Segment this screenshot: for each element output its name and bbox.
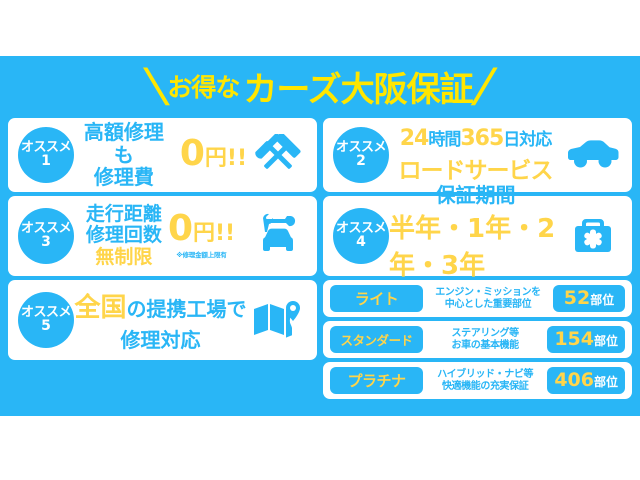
- plan-desc-line1: ハイブリッド・ナビ等: [426, 369, 544, 381]
- benefit-card-3: オススメ 3 走行距離 修理回数 無制限 0 円!! ※修理金額上限有: [8, 196, 317, 276]
- badge-number: 4: [356, 235, 366, 250]
- plan-desc-line2: 中心とした重要部位: [426, 299, 550, 311]
- card-3-amount-unit: 円!!: [193, 215, 235, 247]
- crossed-hammers-icon: [247, 134, 309, 176]
- benefit-row-3: オススメ 5 全国の提携工場で 修理対応: [8, 280, 632, 399]
- plan-description: ステアリング等 お車の基本機能: [423, 328, 547, 352]
- benefit-grid: オススメ 1 高額修理も 修理費 0 円!!: [8, 118, 632, 403]
- card-2-hours-unit: 時間: [428, 130, 460, 150]
- car-wrench-icon: [247, 211, 309, 261]
- badge-number: 3: [41, 235, 51, 250]
- headline-prefix: お得な: [167, 68, 239, 104]
- plan-list: ライト エンジン・ミッションを 中心とした重要部位 52部位 スタンダード ステ…: [323, 280, 632, 399]
- card-1-text: 高額修理も 修理費: [74, 121, 174, 188]
- card-3-amount-number: 0: [168, 212, 193, 246]
- card-3-amount: 0 円!!: [168, 212, 235, 247]
- card-2-days-unit: 日対応: [503, 130, 551, 150]
- benefit-card-4: オススメ 4 保証期間 半年・1年・2年・3年 ※加入者様の加入状況により延長が…: [323, 196, 632, 276]
- plan-count-unit: 部位: [594, 328, 618, 355]
- card-2-days-number: 365: [460, 126, 503, 151]
- plan-count-unit: 部位: [594, 369, 618, 396]
- benefit-row-2: オススメ 3 走行距離 修理回数 無制限 0 円!! ※修理金額上限有: [8, 196, 632, 276]
- card-1-amount: 0 円!!: [180, 137, 247, 172]
- benefit-card-4-body: 保証期間 半年・1年・2年・3年 ※加入者様の加入状況により延長が可能: [389, 179, 562, 294]
- card-5-highlight: 全国: [74, 293, 126, 323]
- card-5-line2: 修理対応: [121, 324, 201, 353]
- badge-number: 5: [41, 319, 51, 334]
- plan-desc-line1: ステアリング等: [426, 328, 544, 340]
- plan-count-badge: 406部位: [547, 367, 625, 394]
- card-3-line3: 無制限: [95, 247, 152, 268]
- card-3-note: ※修理金額上限有: [176, 249, 226, 259]
- card-4-line1: 保証期間: [436, 179, 516, 208]
- benefit-card-2-body: 24時間365日対応 ロードサービス: [389, 125, 562, 185]
- card-4-line2: 半年・1年・2年・3年: [389, 208, 562, 282]
- badge-label: オススメ: [336, 222, 386, 236]
- recommend-badge-5: オススメ 5: [18, 292, 74, 348]
- plan-desc-line1: エンジン・ミッションを: [426, 287, 550, 299]
- recommend-badge-1: オススメ 1: [18, 127, 74, 183]
- map-pin-icon: [247, 299, 309, 341]
- badge-label: オススメ: [21, 222, 71, 236]
- card-2-line1: 24時間365日対応: [400, 125, 552, 151]
- car-side-icon: [562, 138, 624, 172]
- plan-count-badge: 154部位: [547, 326, 625, 353]
- card-5-line1: 全国の提携工場で: [74, 287, 246, 324]
- card-1-amount-number: 0: [180, 137, 205, 171]
- card-1-amount-unit: 円!!: [205, 140, 247, 172]
- card-1-line1: 高額修理も: [74, 121, 174, 166]
- plan-row-platinum[interactable]: プラチナ ハイブリッド・ナビ等 快適機能の充実保証 406部位: [323, 362, 632, 399]
- plan-description: ハイブリッド・ナビ等 快適機能の充実保証: [423, 369, 547, 393]
- plan-count-number: 52: [564, 285, 590, 312]
- recommend-badge-2: オススメ 2: [333, 127, 389, 183]
- card-2-hours-number: 24: [400, 126, 429, 151]
- plan-count-badge: 52部位: [553, 285, 625, 312]
- first-aid-case-icon: [562, 215, 624, 257]
- benefit-card-1-body: 高額修理も 修理費 0 円!!: [74, 121, 247, 188]
- poster-page: \ お得な カーズ大阪保証 / オススメ 1 高額修理も 修理費 0: [0, 0, 640, 480]
- card-3-line1: 走行距離: [86, 204, 162, 225]
- benefit-card-5-body: 全国の提携工場で 修理対応: [74, 287, 247, 353]
- plan-row-standard[interactable]: スタンダード ステアリング等 お車の基本機能 154部位: [323, 321, 632, 358]
- plan-name-pill[interactable]: スタンダード: [330, 326, 423, 353]
- benefit-card-1: オススメ 1 高額修理も 修理費 0 円!!: [8, 118, 317, 192]
- card-3-text: 走行距離 修理回数 無制限: [86, 204, 162, 268]
- plan-desc-line2: 快適機能の充実保証: [426, 381, 544, 393]
- badge-number: 1: [41, 154, 51, 169]
- badge-label: オススメ: [336, 141, 386, 155]
- badge-label: オススメ: [21, 141, 71, 155]
- recommend-badge-3: オススメ 3: [18, 208, 74, 264]
- benefit-card-5: オススメ 5 全国の提携工場で 修理対応: [8, 280, 317, 360]
- benefit-card-3-body: 走行距離 修理回数 無制限 0 円!! ※修理金額上限有: [74, 204, 247, 268]
- badge-number: 2: [356, 154, 366, 169]
- poster-headline: \ お得な カーズ大阪保証 /: [0, 62, 640, 110]
- card-5-rest: の提携工場で: [127, 297, 247, 321]
- recommend-badge-4: オススメ 4: [333, 208, 389, 264]
- plan-description: エンジン・ミッションを 中心とした重要部位: [423, 287, 553, 311]
- card-3-amount-block: 0 円!! ※修理金額上限有: [168, 212, 235, 259]
- plan-count-unit: 部位: [590, 287, 614, 314]
- plan-desc-line2: お車の基本機能: [426, 340, 544, 352]
- plan-name-pill[interactable]: ライト: [330, 285, 423, 312]
- headline-slash-right-icon: /: [469, 63, 499, 109]
- plan-count-number: 406: [554, 367, 594, 394]
- card-3-line2: 修理回数: [86, 225, 162, 246]
- plan-row-light[interactable]: ライト エンジン・ミッションを 中心とした重要部位 52部位: [323, 280, 632, 317]
- card-1-line2: 修理費: [94, 166, 154, 188]
- plan-count-number: 154: [554, 326, 594, 353]
- plan-name-pill[interactable]: プラチナ: [330, 367, 423, 394]
- badge-label: オススメ: [21, 306, 71, 320]
- headline-main: カーズ大阪保証: [243, 62, 472, 111]
